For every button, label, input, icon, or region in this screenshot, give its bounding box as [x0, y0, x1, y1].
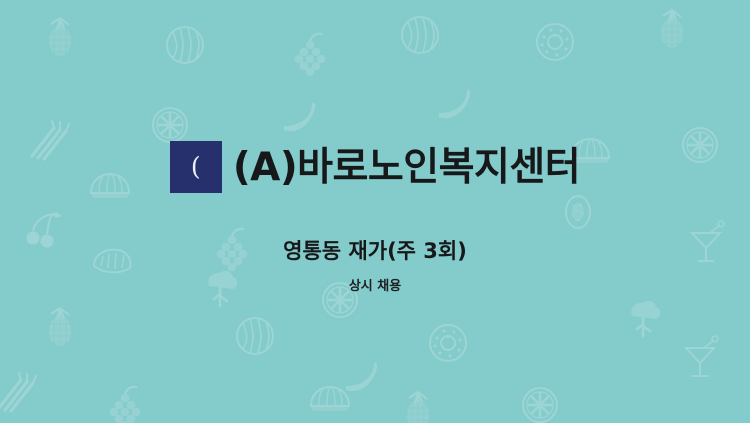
company-logo-mark: (: [170, 141, 222, 193]
job-posting-banner: ( (A)바로노인복지센터 영통동 재가(주 3회) 상시 채용: [0, 0, 750, 423]
logo-paren-glyph: (: [191, 154, 201, 179]
hiring-status-label: 상시 채용: [349, 280, 401, 293]
organization-name: (A)바로노인복지센터: [233, 148, 580, 187]
banner-content: ( (A)바로노인복지센터 영통동 재가(주 3회) 상시 채용: [0, 0, 750, 423]
organization-title-row: ( (A)바로노인복지센터: [170, 141, 580, 193]
job-position-title: 영통동 재가(주 3회): [283, 241, 467, 262]
